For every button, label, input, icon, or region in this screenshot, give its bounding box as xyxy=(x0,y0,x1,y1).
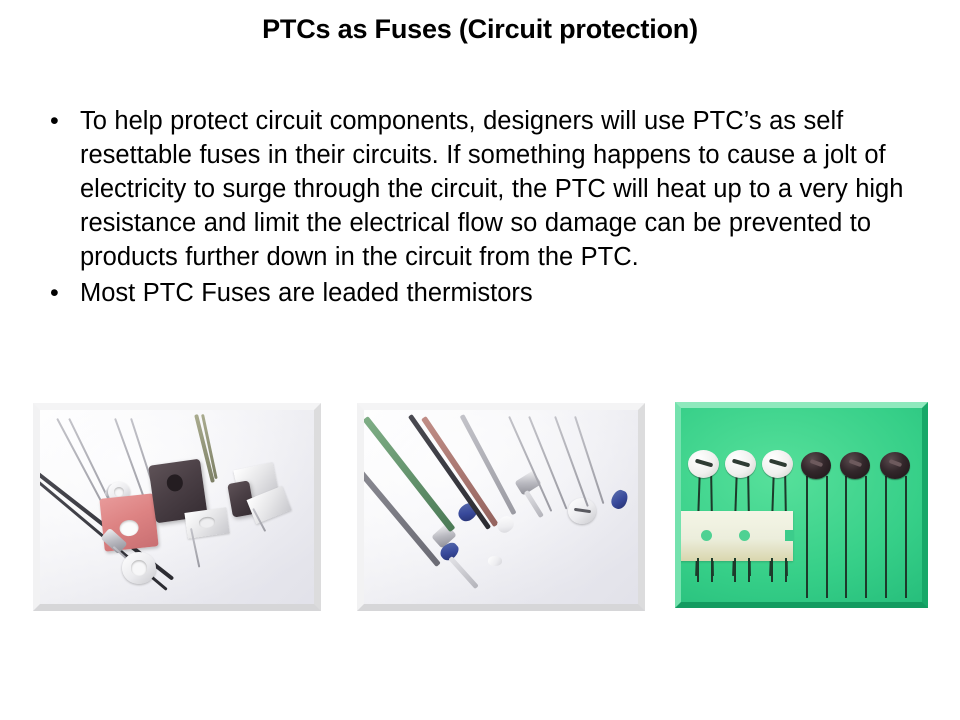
bullet-list: • To help protect circuit components, de… xyxy=(46,104,926,312)
lead-wire xyxy=(905,476,907,598)
lead-wire xyxy=(785,558,787,582)
photo-content xyxy=(681,408,922,602)
bullet-text: To help protect circuit components, desi… xyxy=(80,104,916,274)
lead-wire xyxy=(865,476,867,598)
photo-leaded-thermistors xyxy=(357,403,645,611)
bullet-marker: • xyxy=(46,276,80,310)
component-hole xyxy=(165,473,184,493)
lead-wire xyxy=(748,558,750,582)
photo-content xyxy=(364,410,638,604)
bullet-text: Most PTC Fuses are leaded thermistors xyxy=(80,276,926,310)
disc-slit xyxy=(769,459,788,468)
page-title: PTCs as Fuses (Circuit protection) xyxy=(0,14,960,45)
disc-slit xyxy=(695,459,714,468)
disc-slit xyxy=(889,459,902,467)
list-item: • To help protect circuit components, de… xyxy=(46,104,926,274)
lead-wire xyxy=(711,558,713,582)
lead-wire xyxy=(806,476,808,598)
disc-thermistor-black xyxy=(801,452,831,479)
ring-terminal xyxy=(122,552,156,584)
loose-disc xyxy=(488,556,502,566)
slide: PTCs as Fuses (Circuit protection) • To … xyxy=(0,0,960,720)
photo-disc-thermistors-green xyxy=(675,402,928,608)
lead-wire xyxy=(845,476,847,598)
mount-hole xyxy=(119,519,139,537)
tape-hole xyxy=(739,530,750,541)
tab-hole xyxy=(198,516,215,529)
list-item: • Most PTC Fuses are leaded thermistors xyxy=(46,276,926,310)
disc-thermistor-white xyxy=(762,450,793,478)
disc-element xyxy=(568,498,596,524)
disc-thermistor-white xyxy=(688,450,719,478)
disc-slit xyxy=(732,459,751,468)
tape-hole xyxy=(701,530,712,541)
bullet-marker: • xyxy=(46,104,80,138)
lead-wire xyxy=(826,476,828,598)
photo-content xyxy=(40,410,314,604)
disc-thermistor-white xyxy=(725,450,756,478)
photo-backdrop xyxy=(364,410,638,604)
disc-thermistor-black xyxy=(840,452,870,479)
lead-wire xyxy=(734,558,736,582)
tape-notch xyxy=(785,530,794,541)
lead-wire xyxy=(771,558,773,582)
lead-wire xyxy=(697,558,699,582)
photo-thermistor-assemblies xyxy=(33,403,321,611)
lead-wire xyxy=(885,476,887,598)
carrier-tape xyxy=(681,511,793,561)
disc-slit xyxy=(810,459,823,467)
disc-thermistor-black xyxy=(880,452,910,479)
disc-slit xyxy=(849,459,862,467)
